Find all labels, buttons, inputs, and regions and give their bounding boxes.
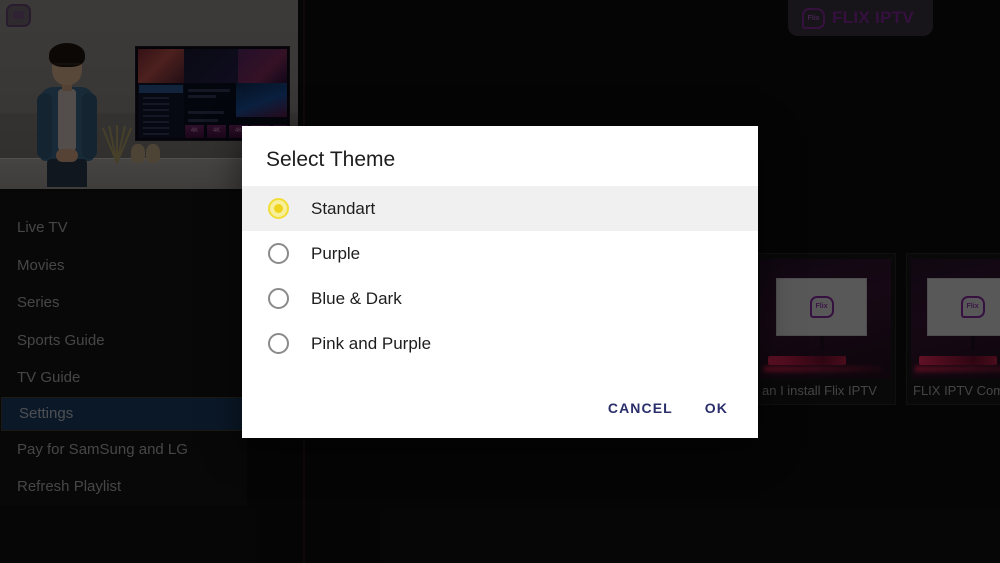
- theme-option-label: Pink and Purple: [311, 334, 431, 354]
- dialog-title: Select Theme: [242, 126, 758, 186]
- select-theme-dialog: Select Theme Standart Purple Blue & Dark…: [242, 126, 758, 438]
- app-screen: 4K 4K 4K 4K 4K 4K: [0, 0, 1000, 563]
- theme-options-list: Standart Purple Blue & Dark Pink and Pur…: [242, 186, 758, 400]
- theme-option-purple[interactable]: Purple: [242, 231, 758, 276]
- theme-option-label: Blue & Dark: [311, 289, 402, 309]
- ok-button[interactable]: OK: [705, 400, 728, 416]
- cancel-button[interactable]: CANCEL: [608, 400, 673, 416]
- dialog-actions: CANCEL OK: [242, 400, 758, 438]
- radio-button-selected-icon[interactable]: [268, 198, 289, 219]
- radio-button-icon[interactable]: [268, 333, 289, 354]
- theme-option-label: Purple: [311, 244, 360, 264]
- theme-option-blue-and-dark[interactable]: Blue & Dark: [242, 276, 758, 321]
- radio-button-icon[interactable]: [268, 243, 289, 264]
- theme-option-standart[interactable]: Standart: [242, 186, 758, 231]
- radio-button-icon[interactable]: [268, 288, 289, 309]
- theme-option-pink-and-purple[interactable]: Pink and Purple: [242, 321, 758, 366]
- theme-option-label: Standart: [311, 199, 375, 219]
